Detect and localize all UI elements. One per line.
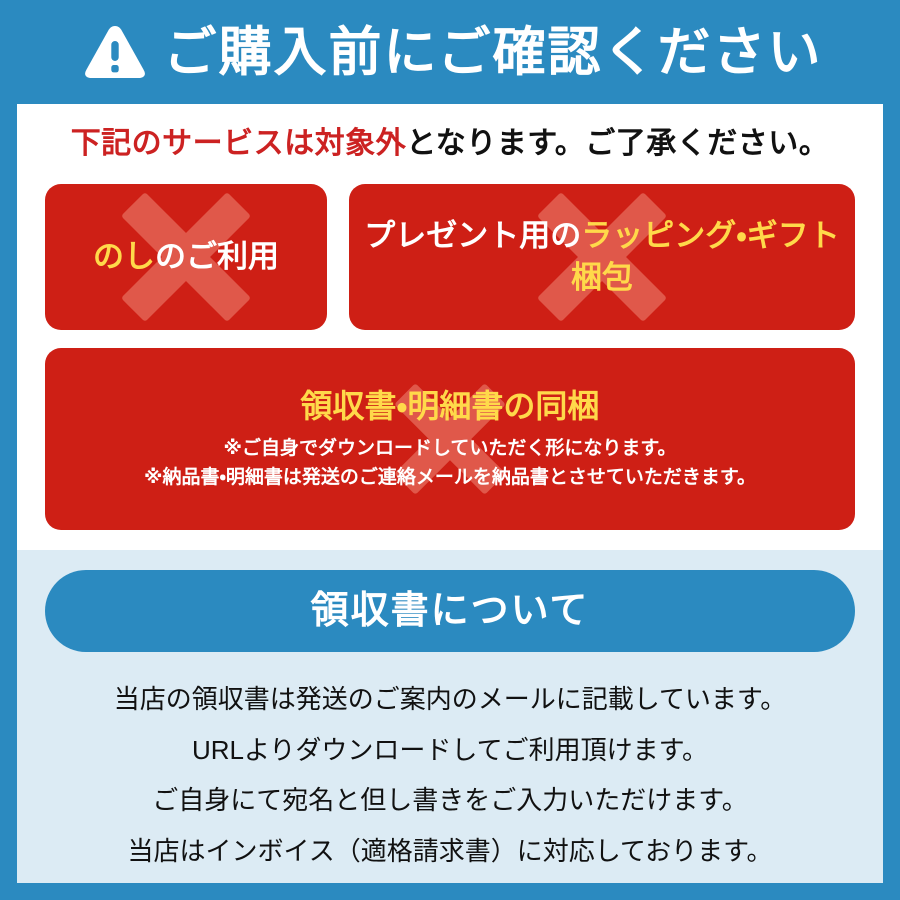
receipt-note-line: URLよりダウンロードしてご利用頂けます。 <box>45 725 855 776</box>
noshi-white-text: のご利用 <box>155 239 279 274</box>
subtitle-highlight: 下記のサービスは対象外 <box>71 127 407 160</box>
exclusion-row-top: のしのご利用 プレゼント用のラッピング・ギフト梱包 <box>45 184 855 330</box>
receipt-enclosure-content: 領収書・明細書の同梱 ※ご自身でダウンロードしていただく形になります。 ※納品書… <box>45 386 855 493</box>
exclusion-card-noshi: のしのご利用 <box>45 184 327 330</box>
receipt-note-line: ご自身にて宛名と但し書きをご入力いただけます。 <box>45 775 855 826</box>
banner-header: ご購入前にご確認ください <box>0 0 900 104</box>
receipt-section-heading: 領収書について <box>45 570 855 652</box>
notice-banner: ご購入前にご確認ください 下記のサービスは対象外となります。ご了承ください。 の… <box>0 0 900 900</box>
exclusion-card-receipt-enclosure: 領収書・明細書の同梱 ※ご自身でダウンロードしていただく形になります。 ※納品書… <box>45 348 855 530</box>
exclusions-subtitle: 下記のサービスは対象外となります。ご了承ください。 <box>45 126 855 162</box>
receipt-section-notes: 当店の領収書は発送のご案内のメールに記載しています。 URLよりダウンロードして… <box>45 674 855 877</box>
exclusion-card-wrapping: プレゼント用のラッピング・ギフト梱包 <box>349 184 855 330</box>
receipt-note-line: 当店はインボイス（適格請求書）に対応しております。 <box>45 826 855 877</box>
noshi-yellow-text: のし <box>93 239 155 274</box>
wrapping-yellow-text: ラッピング・ギフト梱包 <box>571 218 840 295</box>
subtitle-rest: となります。ご了承ください。 <box>406 127 829 160</box>
receipt-enclosure-note-1: ※ご自身でダウンロードしていただく形になります。 <box>53 434 847 463</box>
wrapping-white-text: プレゼント用の <box>364 218 581 253</box>
receipt-note-line: 当店の領収書は発送のご案内のメールに記載しています。 <box>45 674 855 725</box>
exclusion-card-wrapping-label: プレゼント用のラッピング・ギフト梱包 <box>349 215 855 299</box>
exclusion-card-noshi-label: のしのご利用 <box>83 236 289 278</box>
page-title: ご購入前にご確認ください <box>164 26 823 79</box>
receipt-enclosure-note-2: ※納品書・明細書は発送のご連絡メールを納品書とさせていただきます。 <box>53 463 847 492</box>
content-frame: 下記のサービスは対象外となります。ご了承ください。 のしのご利用 <box>17 104 883 883</box>
exclusions-section: 下記のサービスは対象外となります。ご了承ください。 のしのご利用 <box>17 104 883 550</box>
receipt-section-heading-label: 領収書について <box>311 592 590 630</box>
receipt-section: 領収書について 当店の領収書は発送のご案内のメールに記載しています。 URLより… <box>17 550 883 883</box>
receipt-enclosure-title: 領収書・明細書の同梱 <box>53 386 847 426</box>
warning-triangle-icon <box>84 24 146 80</box>
